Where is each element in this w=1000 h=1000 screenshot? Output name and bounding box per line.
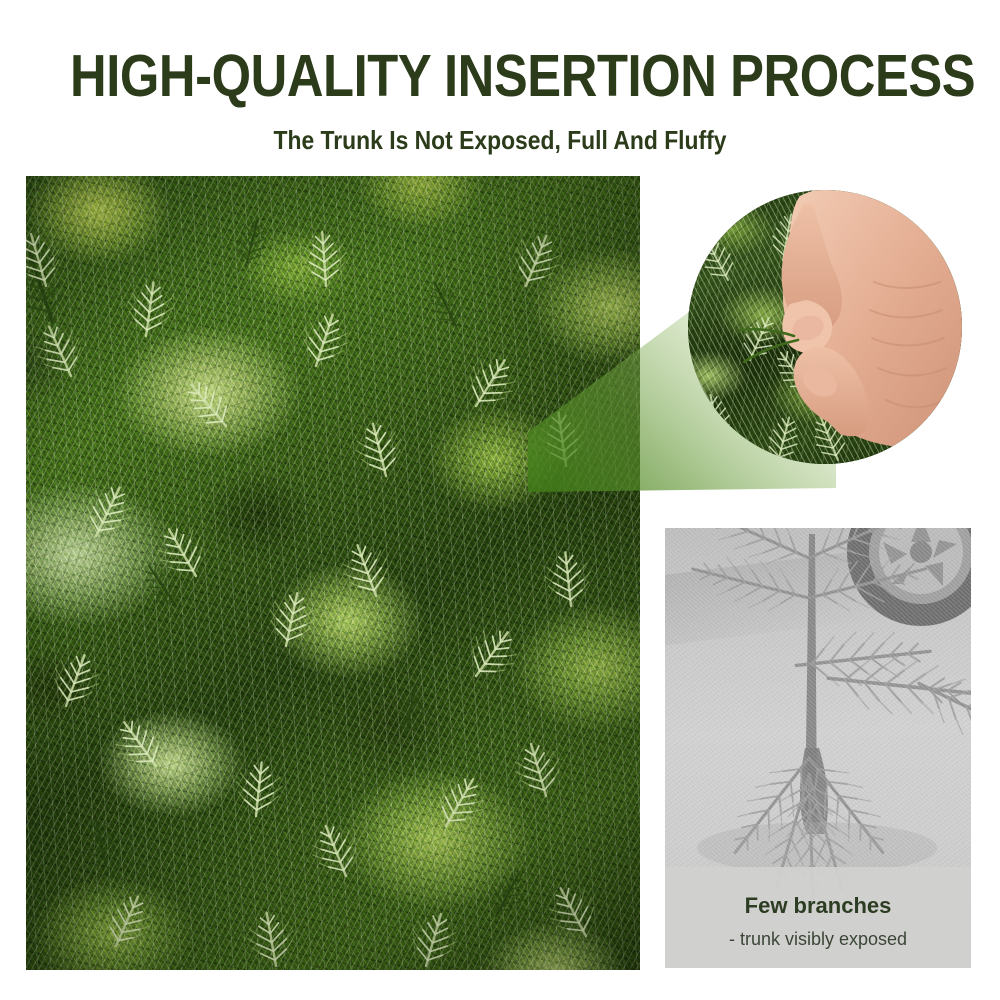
hero-foliage-photo — [26, 176, 640, 970]
headline-block: HIGH-QUALITY INSERTION PROCESS The Trunk… — [0, 0, 1000, 153]
page-subtitle: The Trunk Is Not Exposed, Full And Fluff… — [60, 127, 940, 153]
comparison-caption-band: Few branches - trunk visibly exposed — [665, 867, 971, 968]
detail-callout-circle — [688, 190, 962, 464]
hand-pinching-foliage-icon — [688, 190, 962, 464]
page-title: HIGH-QUALITY INSERTION PROCESS — [70, 47, 930, 106]
photo-vignette — [26, 176, 640, 970]
comparison-caption-subtitle: - trunk visibly exposed — [665, 930, 971, 948]
comparison-panel: Few branches - trunk visibly exposed — [665, 528, 971, 968]
comparison-caption-title: Few branches — [665, 895, 971, 917]
